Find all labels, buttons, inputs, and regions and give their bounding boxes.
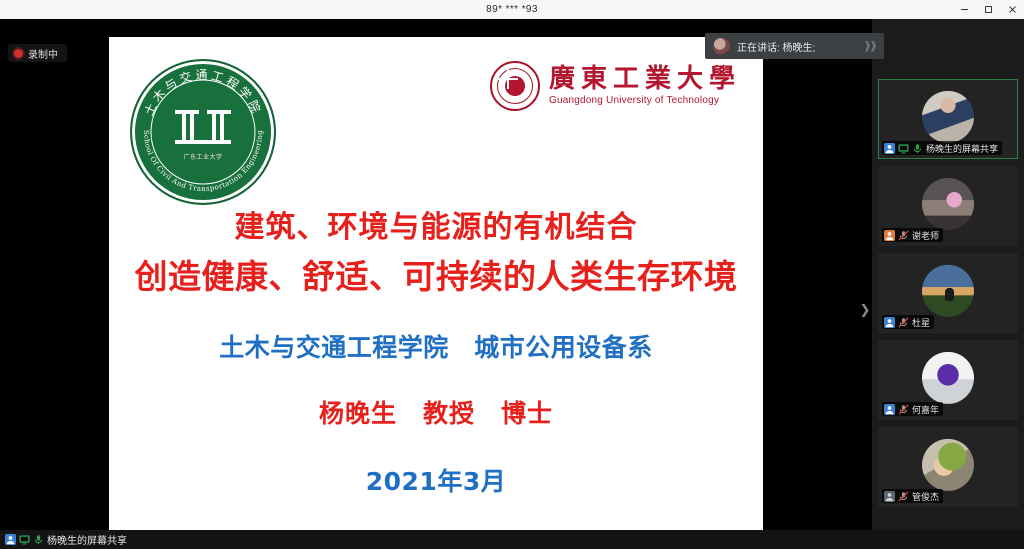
participant-name: 管俊杰 (912, 490, 939, 503)
participant-label: 何嘉年 (882, 402, 943, 416)
active-speaker-banner: 正在讲话: 杨晚生; (705, 33, 884, 59)
close-icon[interactable] (1000, 0, 1024, 19)
person-icon (884, 230, 895, 241)
participant-name: 谢老师 (912, 229, 939, 242)
recording-dot-icon (14, 49, 23, 58)
microphone-muted-icon (898, 230, 909, 241)
screen-share-icon (19, 534, 30, 545)
participant-tile[interactable]: 杨晚生的屏幕共享 (878, 79, 1018, 159)
microphone-icon (33, 534, 44, 545)
participant-label: 杨晚生的屏幕共享 (882, 141, 1002, 155)
slide-line-4: 杨晚生 教授 博士 (319, 394, 553, 430)
participant-tile[interactable]: 何嘉年 (878, 340, 1018, 420)
avatar (922, 91, 974, 143)
window-title: 89* *** *93 (486, 4, 538, 15)
seal-inner-text: 广东工业大学 (183, 152, 222, 161)
avatar (922, 352, 974, 404)
university-name-en: Guangdong University of Technology (549, 95, 741, 106)
person-icon (884, 491, 895, 502)
screen-share-stage: 录制中 土木与交通工程学院 School Of Civil And (0, 19, 872, 530)
recording-label: 录制中 (28, 46, 58, 61)
presentation-slide: 土木与交通工程学院 School Of Civil And Transporta… (109, 37, 763, 530)
collapse-panel-chevron-icon[interactable]: ❯ (858, 296, 872, 324)
meeting-window: 录制中 土木与交通工程学院 School Of Civil And (0, 19, 1024, 549)
participant-rail[interactable]: 杨晚生的屏幕共享 谢老师 杜星 何嘉年 (872, 19, 1024, 530)
microphone-icon (912, 143, 923, 154)
speaker-label: 正在讲话: 杨晚生; (737, 39, 815, 54)
microphone-muted-icon (898, 491, 909, 502)
minimize-icon[interactable] (952, 0, 976, 19)
university-name-cn: 廣東工業大學 (549, 66, 741, 93)
seal-inner: 广东工业大学 (155, 84, 251, 180)
slide-line-5: 2021年3月 (366, 462, 506, 498)
slide-line-2: 创造健康、舒适、可持续的人类生存环境 (135, 252, 738, 302)
share-status-label: 杨晚生的屏幕共享 (47, 532, 127, 547)
slide-text-block: 建筑、环境与能源的有机结合 创造健康、舒适、可持续的人类生存环境 土木与交通工程… (109, 205, 763, 498)
person-icon (884, 143, 895, 154)
bottom-status-bar: 杨晚生的屏幕共享 (0, 530, 1024, 549)
participant-label: 杜星 (882, 315, 934, 329)
person-icon (884, 404, 895, 415)
speaker-avatar (713, 38, 730, 55)
maximize-icon[interactable] (976, 0, 1000, 19)
university-logo: 廣東工業大學 Guangdong University of Technolog… (490, 61, 741, 111)
seal-pillars-icon (175, 104, 231, 148)
slide-line-1: 建筑、环境与能源的有机结合 (235, 205, 638, 250)
person-icon (5, 534, 16, 545)
audio-wave-icon (865, 41, 876, 52)
slide-line-3: 土木与交通工程学院 城市公用设备系 (219, 328, 653, 364)
school-seal-logo: 土木与交通工程学院 School Of Civil And Transporta… (130, 59, 276, 205)
avatar (922, 178, 974, 230)
avatar (922, 439, 974, 491)
participant-label: 谢老师 (882, 228, 943, 242)
participant-name: 何嘉年 (912, 403, 939, 416)
person-icon (884, 317, 895, 328)
participant-name: 杜星 (912, 316, 930, 329)
window-titlebar: 89* *** *93 (0, 0, 1024, 20)
microphone-muted-icon (898, 404, 909, 415)
microphone-muted-icon (898, 317, 909, 328)
participant-tile[interactable]: 谢老师 (878, 166, 1018, 246)
university-emblem-icon (490, 61, 540, 111)
screen-share-icon (898, 143, 909, 154)
participant-name: 杨晚生的屏幕共享 (926, 142, 998, 155)
participant-tile[interactable]: 杜星 (878, 253, 1018, 333)
share-status-chip[interactable]: 杨晚生的屏幕共享 (0, 530, 132, 549)
participant-label: 管俊杰 (882, 489, 943, 503)
window-controls (952, 0, 1024, 19)
participant-tile[interactable]: 管俊杰 (878, 427, 1018, 507)
recording-indicator: 录制中 (8, 44, 67, 62)
avatar (922, 265, 974, 317)
